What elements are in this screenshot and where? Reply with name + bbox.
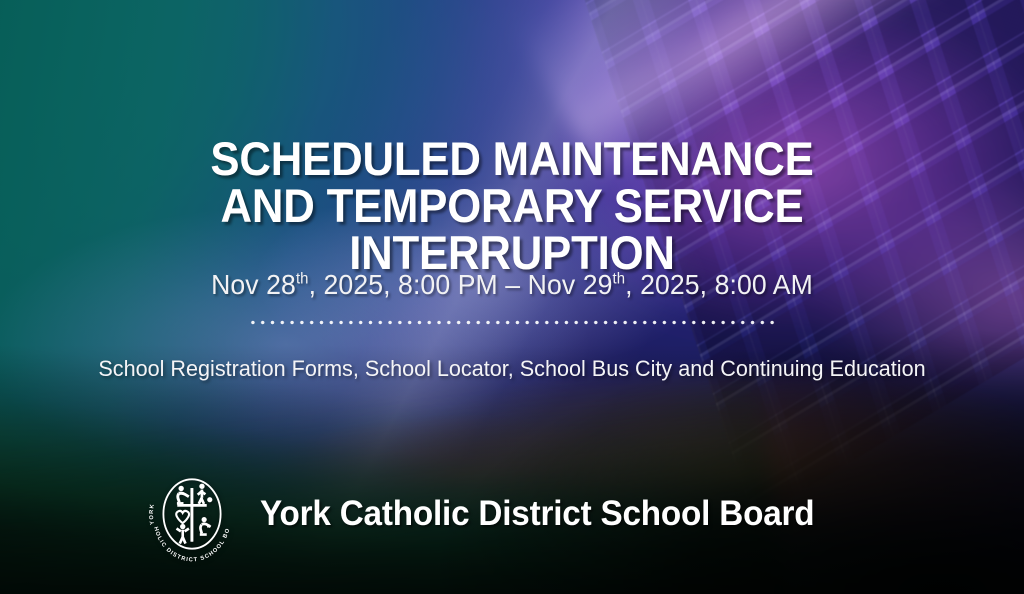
start-date-time: , 2025, 8:00 PM: [309, 269, 498, 300]
date-range-separator: –: [498, 269, 528, 300]
headline-line-1: SCHEDULED MAINTENANCE: [36, 135, 988, 182]
page-title: SCHEDULED MAINTENANCE AND TEMPORARY SERV…: [36, 135, 988, 276]
maintenance-notice-banner: SCHEDULED MAINTENANCE AND TEMPORARY SERV…: [0, 0, 1024, 594]
crest-figure-lower-left: [176, 524, 190, 544]
affected-services-text: School Registration Forms, School Locato…: [20, 355, 1003, 383]
end-date-time: , 2025, 8:00 AM: [625, 269, 813, 300]
banner-content: SCHEDULED MAINTENANCE AND TEMPORARY SERV…: [0, 0, 1024, 594]
crest-ring-text-top: YORK: [149, 503, 156, 525]
dotted-divider: [248, 320, 780, 325]
start-date-ordinal: th: [296, 271, 309, 288]
crest-figure-lower-right: [199, 517, 211, 536]
ycdsb-crest-logo: YORK CATHOLIC DISTRICT SCHOOL BOARD: [140, 462, 244, 566]
end-date-ordinal: th: [613, 271, 626, 288]
end-date: Nov 29: [528, 269, 613, 300]
start-date: Nov 28: [211, 269, 296, 300]
organization-lockup: YORK CATHOLIC DISTRICT SCHOOL BOARD York…: [140, 462, 844, 566]
maintenance-window-dates: Nov 28th, 2025, 8:00 PM – Nov 29th, 2025…: [26, 268, 999, 302]
headline-line-2: AND TEMPORARY SERVICE: [36, 182, 988, 229]
crest-figure-upper-left: [176, 486, 189, 505]
organization-name: York Catholic District School Board: [260, 495, 814, 533]
crest-heart-icon: [176, 511, 189, 523]
